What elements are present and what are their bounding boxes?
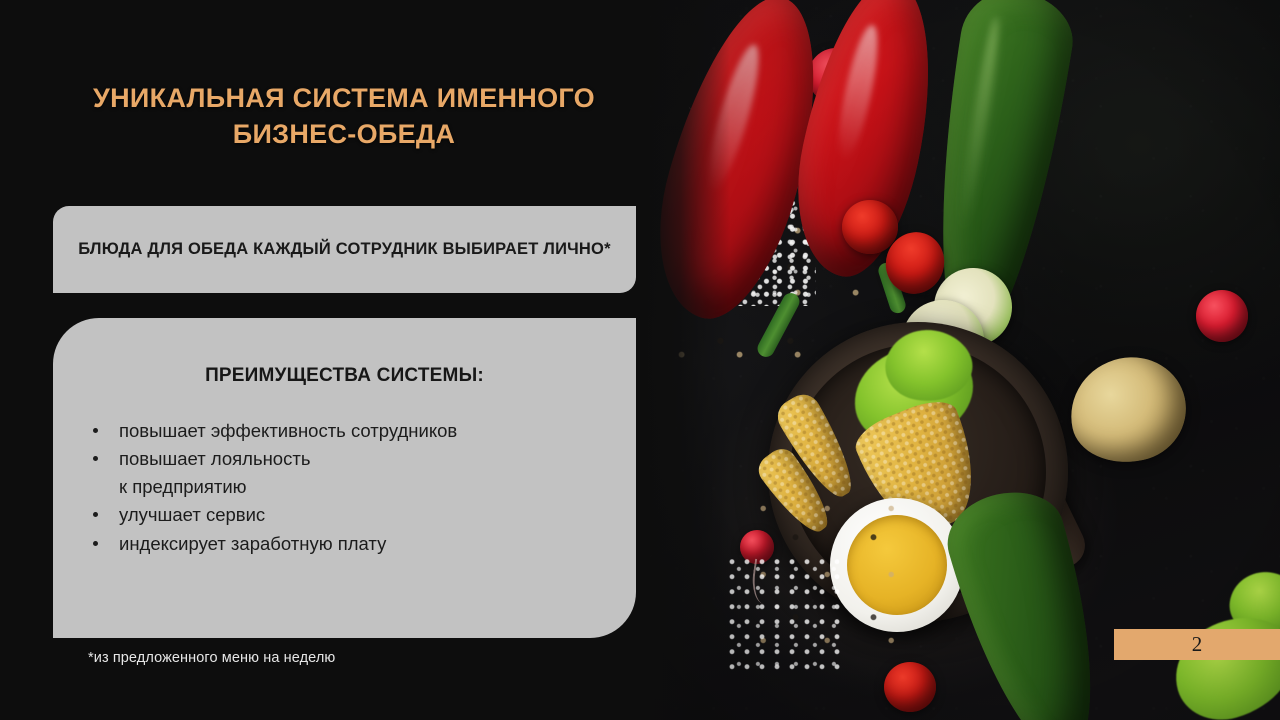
cherry-tomato-3 — [884, 662, 936, 712]
list-item-text: индексирует заработную плату — [119, 533, 386, 554]
page-number: 2 — [1192, 632, 1203, 657]
radish-right — [1196, 290, 1248, 342]
slide-title: УНИКАЛЬНАЯ СИСТЕМА ИМЕННОГО БИЗНЕС-ОБЕДА — [64, 80, 624, 152]
bullet-dot-icon — [93, 428, 98, 433]
list-item: повышает лояльность к предприятию — [92, 445, 636, 500]
list-item: повышает эффективность сотрудников — [92, 417, 636, 444]
list-item-continuation: к предприятию — [119, 473, 636, 500]
list-item-text: повышает эффективность сотрудников — [119, 420, 457, 441]
list-item-text: повышает лояльность — [119, 448, 310, 469]
salt-pile-bottom — [726, 556, 846, 676]
bullet-dot-icon — [93, 456, 98, 461]
card-system-advantages: ПРЕИМУЩЕСТВА СИСТЕМЫ: повышает эффективн… — [53, 318, 636, 638]
cherry-tomato-1 — [842, 200, 898, 254]
page-number-badge: 2 — [1114, 629, 1280, 660]
list-item: индексирует заработную плату — [92, 530, 636, 557]
card-employee-selection-text: БЛЮДА ДЛЯ ОБЕДА КАЖДЫЙ СОТРУДНИК ВЫБИРАЕ… — [58, 238, 630, 261]
presentation-slide: УНИКАЛЬНАЯ СИСТЕМА ИМЕННОГО БИЗНЕС-ОБЕДА… — [0, 0, 1280, 720]
bullet-dot-icon — [93, 541, 98, 546]
list-item: улучшает сервис — [92, 501, 636, 528]
advantages-heading: ПРЕИМУЩЕСТВА СИСТЕМЫ: — [53, 318, 636, 387]
vegetables-photo — [640, 0, 1280, 720]
bullet-dot-icon — [93, 512, 98, 517]
footnote: *из предложенного меню на неделю — [88, 650, 335, 666]
list-item-text: улучшает сервис — [119, 504, 265, 525]
card-employee-selection: БЛЮДА ДЛЯ ОБЕДА КАЖДЫЙ СОТРУДНИК ВЫБИРАЕ… — [53, 206, 636, 293]
advantages-list: повышает эффективность сотрудников повыш… — [53, 417, 636, 557]
